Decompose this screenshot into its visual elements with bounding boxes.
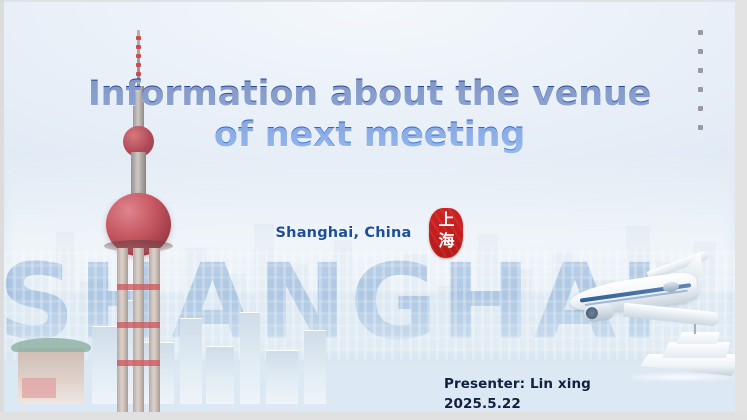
page-edge-right [735,0,747,420]
pagoda-building [18,348,84,404]
presenter-name: Presenter: Lin xing [444,375,591,395]
seal-char-bottom: 海 [429,232,463,250]
page-edge-top [0,0,747,2]
dot-icon [698,30,703,35]
subtitle-row: Shanghai, China 上 海 [4,208,735,258]
presentation-date: 2025.5.22 [444,395,591,412]
yacht-illustration [640,322,735,384]
slide-title: Information about the venue of next meet… [4,74,735,157]
seal-char-top: 上 [429,211,463,229]
presentation-slide: SHANGHAI [0,0,747,420]
dot-icon [698,49,703,54]
dot-icon [698,68,703,73]
slide-title-line-2: of next meeting [214,115,525,155]
shanghai-seal-stamp: 上 海 [429,208,463,258]
slide-canvas: SHANGHAI [4,2,735,412]
presenter-block: Presenter: Lin xing 2025.5.22 [444,375,591,412]
page-edge-left [0,0,4,420]
slide-subtitle: Shanghai, China [276,225,412,241]
slide-title-line-1: Information about the venue [88,74,651,114]
page-edge-bottom [0,412,747,420]
